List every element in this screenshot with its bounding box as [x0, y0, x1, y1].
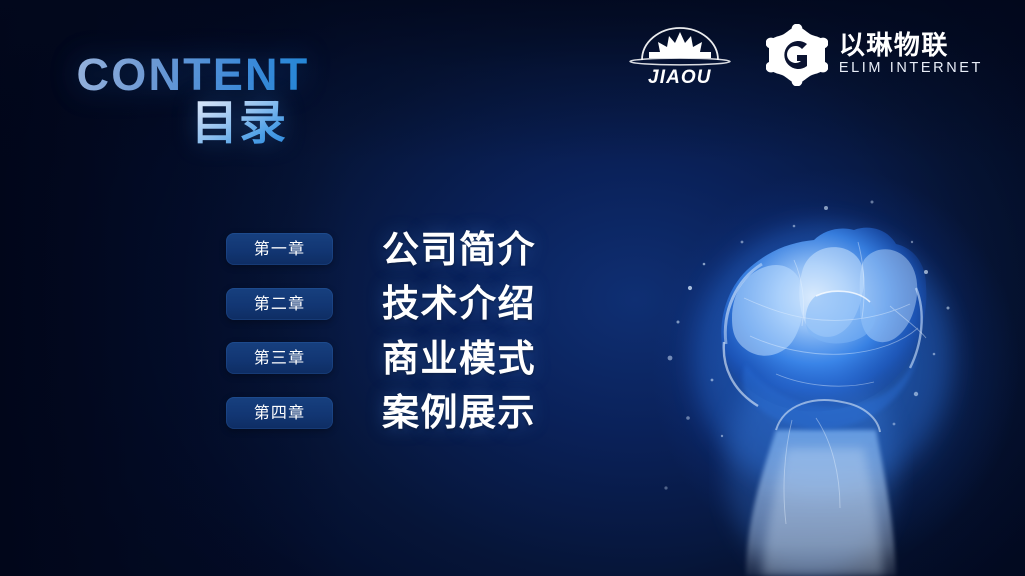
sunrise-crown-icon	[628, 22, 732, 68]
chapter-title-4[interactable]: 案例展示	[382, 394, 536, 431]
toc-item[interactable]: 第四章 案例展示	[226, 386, 536, 441]
slide-title-block: CONTENT 目录	[0, 52, 386, 148]
elim-name-en: ELIM INTERNET	[839, 60, 983, 77]
jiaou-wordmark: JIAOU	[648, 68, 712, 87]
chapter-title-3[interactable]: 商业模式	[382, 340, 536, 377]
elim-logo: 以琳物联 ELIM INTERNET	[766, 24, 983, 86]
chapter-badge-4[interactable]: 第四章	[226, 397, 333, 429]
chapter-badge-1[interactable]: 第一章	[226, 233, 333, 265]
page-title-cn: 目录	[191, 99, 287, 148]
elim-name-cn: 以琳物联	[839, 31, 983, 59]
toc-item[interactable]: 第一章 公司简介	[226, 222, 536, 277]
toc-item[interactable]: 第二章 技术介绍	[226, 277, 536, 332]
chapter-badge-label: 第四章	[254, 405, 306, 421]
logo-bar: JIAOU 以琳物联 ELIM INTERNET	[628, 22, 983, 87]
presentation-slide: CONTENT 目录 JIAOU	[0, 0, 1025, 576]
jiaou-logo: JIAOU	[628, 22, 732, 87]
chapter-title-2[interactable]: 技术介绍	[382, 285, 536, 322]
elim-text: 以琳物联 ELIM INTERNET	[839, 31, 983, 77]
chapter-badge-label: 第二章	[254, 296, 306, 312]
chapter-badge-3[interactable]: 第三章	[226, 342, 333, 374]
table-of-contents: 第一章 公司简介 第二章 技术介绍 第三章 商业模式 第四章 案例展示	[226, 222, 536, 440]
page-title-en: CONTENT	[0, 52, 386, 98]
chapter-title-1[interactable]: 公司简介	[382, 231, 536, 268]
chapter-badge-label: 第三章	[254, 350, 306, 366]
g-hexagon-node-icon	[766, 24, 828, 86]
chapter-badge-2[interactable]: 第二章	[226, 288, 333, 320]
toc-item[interactable]: 第三章 商业模式	[226, 331, 536, 386]
chapter-badge-label: 第一章	[254, 241, 306, 257]
page-title-cn-row: 目录	[0, 99, 386, 148]
